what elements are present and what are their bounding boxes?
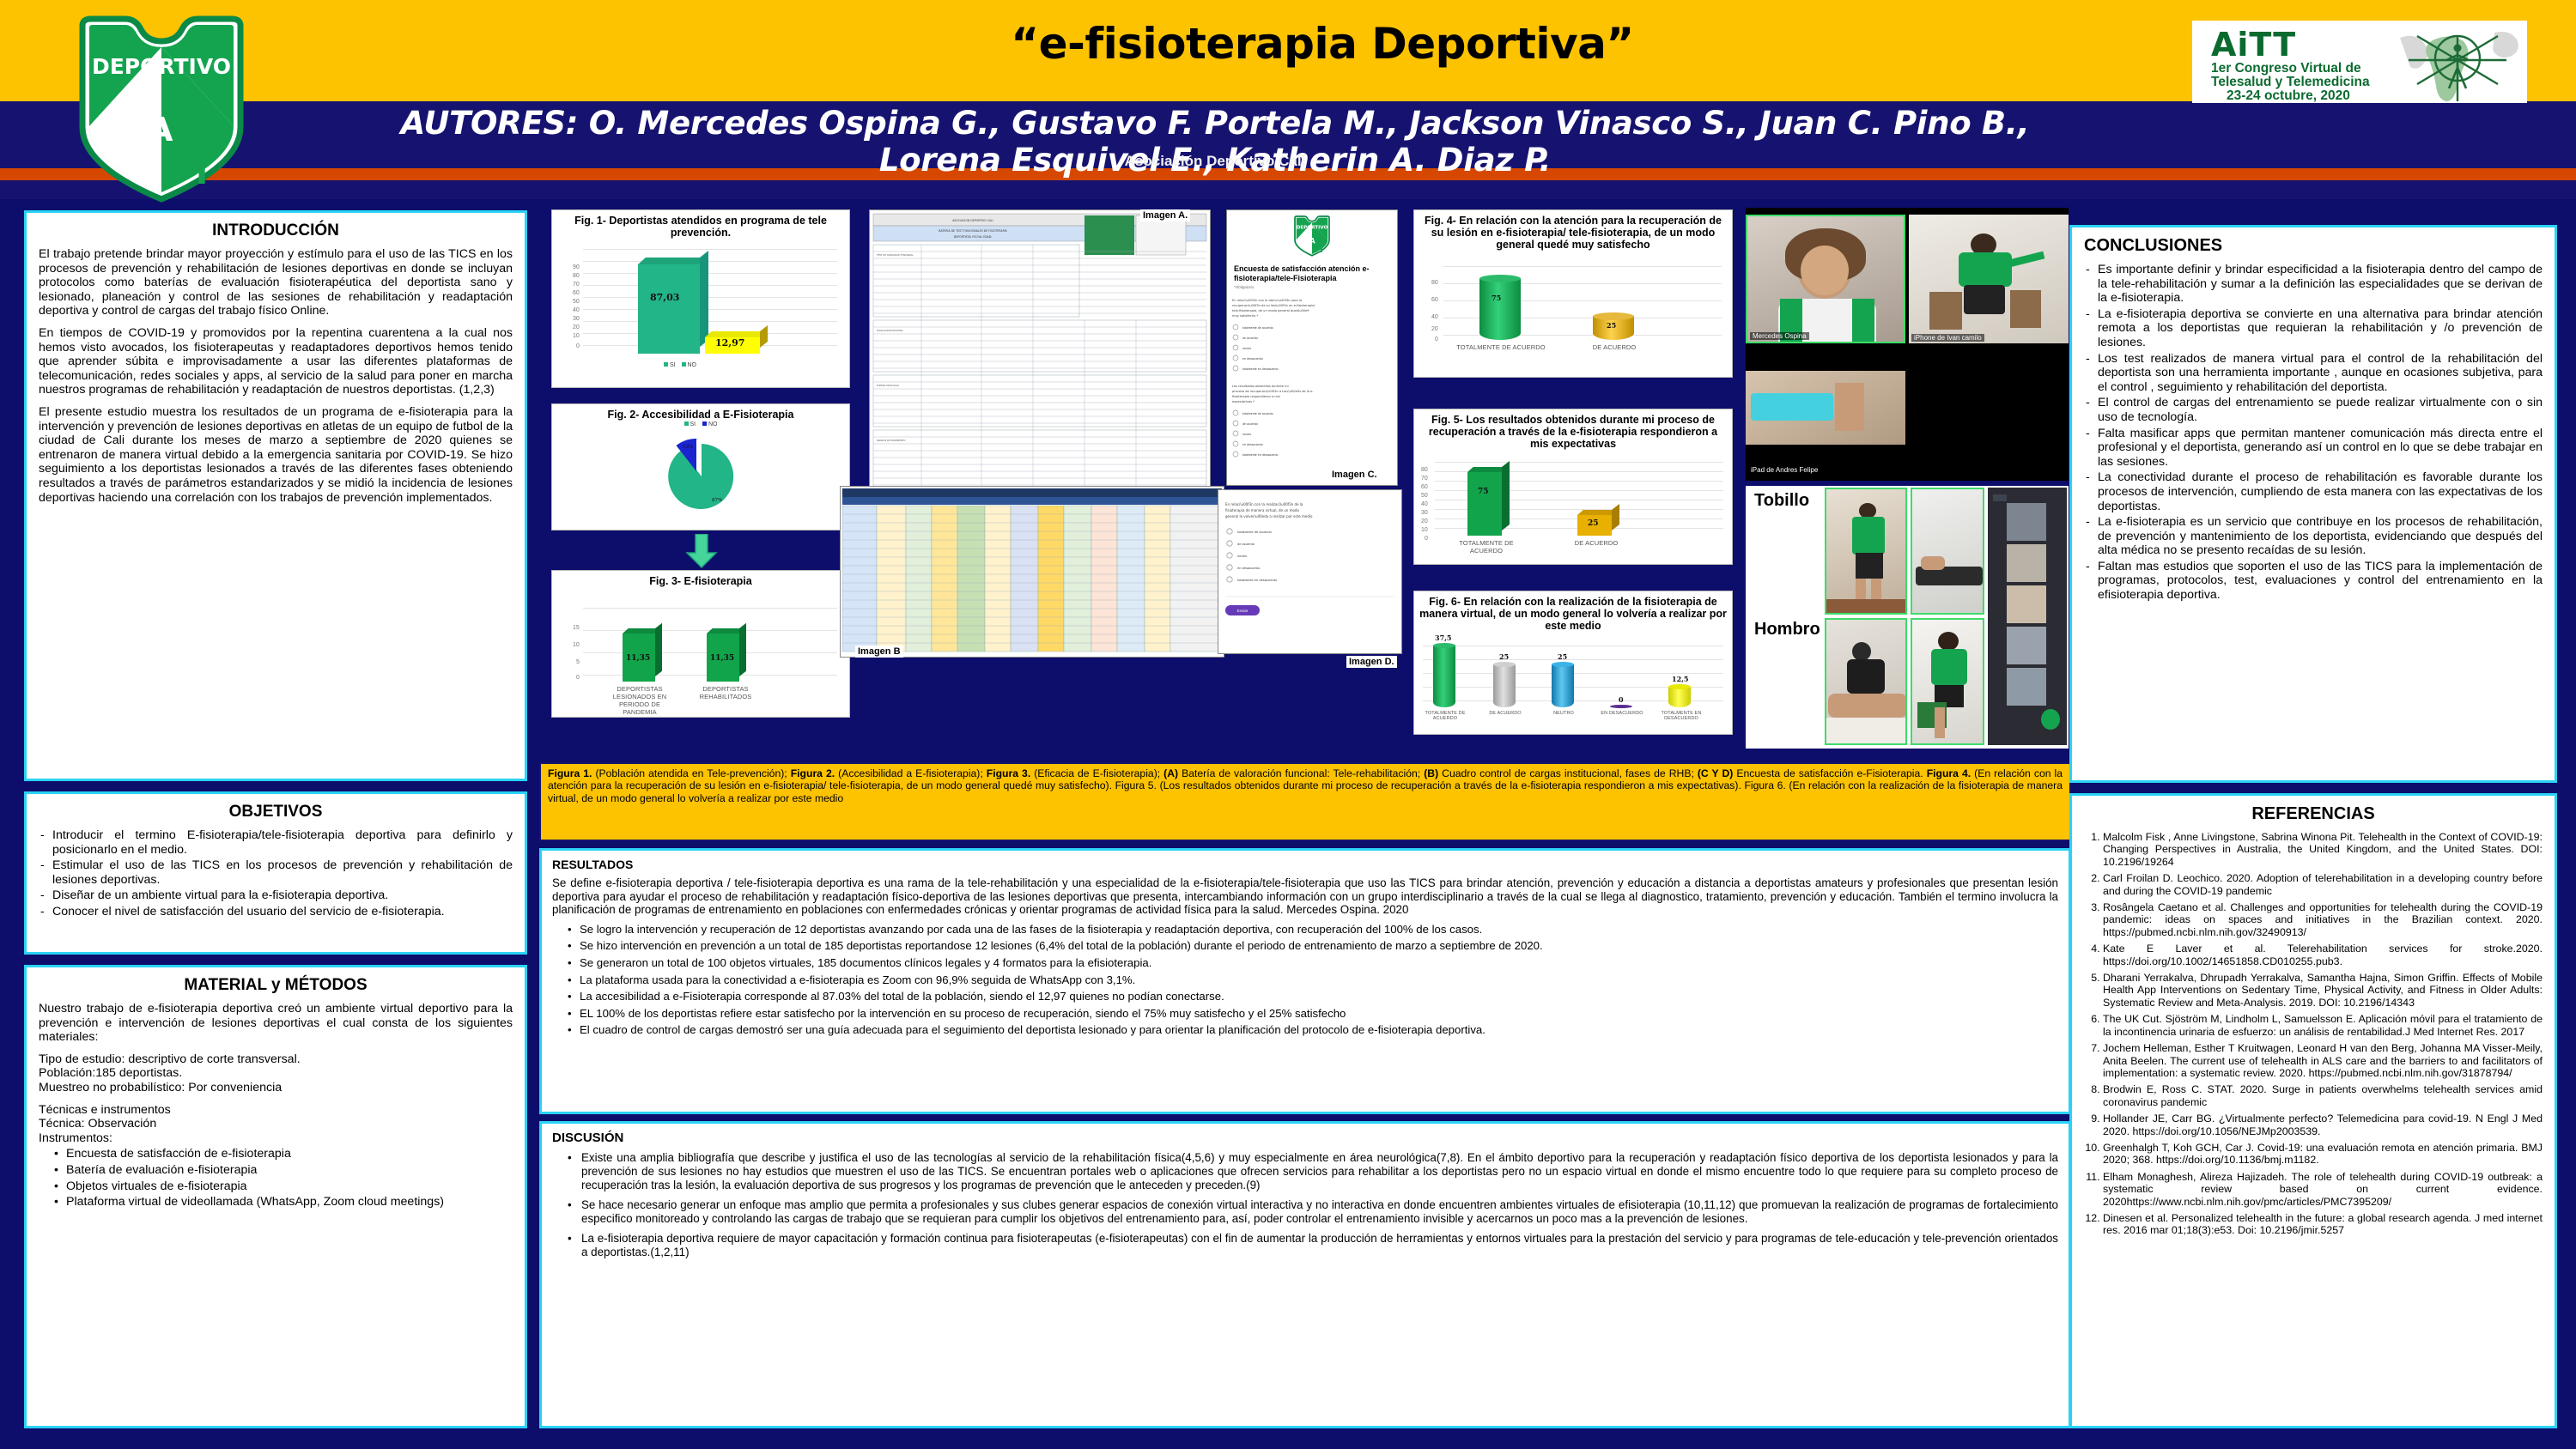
down-arrow-icon <box>685 534 718 568</box>
video-tile-participant-2: iPhone de Ivan camilo <box>1909 215 2069 343</box>
svg-text:A: A <box>148 111 173 149</box>
list-item: Se hace necesario generar un enfoque mas… <box>566 1198 2058 1226</box>
svg-text:de acuerdo: de acuerdo <box>1242 336 1258 340</box>
figure-4-category-2: DE ACUERDO <box>1567 343 1662 351</box>
figure-4-value-1: 75 <box>1492 294 1501 302</box>
section-referencias: REFERENCIAS Malcolm Fisk , Anne Livingst… <box>2069 793 2557 1428</box>
list-item: EL 100% de los deportistas refiere estar… <box>566 1007 2058 1021</box>
imagen-b-label: Imagen B <box>855 646 903 658</box>
svg-text:general lo volver\u00eda a rea: general lo volver\u00eda a realizar por … <box>1225 514 1313 518</box>
figure-4-value-2: 25 <box>1607 321 1616 330</box>
video-tile-participant-1: Mercedes Ospina <box>1746 215 1905 343</box>
svg-text:FUERZA MUSCULAR: FUERZA MUSCULAR <box>877 384 899 387</box>
material-tecnicas-heading: Técnicas e instrumentos <box>39 1103 513 1118</box>
imagen-c-survey-form: DEPORTIVO C A L I Encuesta de satisfacci… <box>1226 209 1398 486</box>
svg-text:totalmente de acuerdo: totalmente de acuerdo <box>1242 412 1273 415</box>
section-discusion: DISCUSIÓN Existe una amplia bibliografía… <box>539 1121 2071 1428</box>
figure-5-title: Fig. 5- Los resultados obtenidos durante… <box>1414 409 1732 452</box>
congress-logo: AiTT 1er Congreso Virtual de Telesalud y… <box>2192 21 2527 103</box>
body-label-tobillo: Tobillo <box>1749 489 1814 512</box>
load-control-spreadsheet-graphic <box>841 487 1224 657</box>
introduccion-heading: INTRODUCCIÓN <box>39 221 513 240</box>
figures-caption: Figura 1. (Población atendida en Tele-pr… <box>539 762 2071 841</box>
svg-text:neutro: neutro <box>1237 554 1248 558</box>
list-item: Greenhalgh T, Koh GCH, Car J. Covid-19: … <box>2103 1142 2543 1167</box>
list-item: Carl Froilan D. Leochico. 2020. Adoption… <box>2103 872 2543 897</box>
svg-text:neutro: neutro <box>1242 347 1251 350</box>
list-item: El cuadro de control de cargas demostró … <box>566 1023 2058 1037</box>
survey-questions-graphic: En relaci\u00f3n con la atenci\u00f3n pa… <box>1227 293 1397 473</box>
imagen-c-label: Imagen C. <box>1329 469 1380 481</box>
list-item: Encuesta de satisfacción de e-fisioterap… <box>52 1147 513 1161</box>
svg-text:En relaci\u00f3n con la atenci: En relaci\u00f3n con la atenci\u00f3n pa… <box>1232 299 1302 302</box>
figure-5-category-2: DE ACUERDO <box>1553 539 1639 547</box>
svg-text:TEST DE CAPACIDAD FUNCIONAL: TEST DE CAPACIDAD FUNCIONAL <box>877 253 914 257</box>
figure-2-chart: Fig. 2- Accesibilidad a E-Fisioterapia S… <box>551 403 850 530</box>
legend-label: NO <box>687 362 696 368</box>
page-title: “e-fisioterapia Deportiva” <box>653 19 1992 69</box>
material-instrumentos-heading: Instrumentos: <box>39 1131 513 1146</box>
figure-3-value-1: 11,35 <box>626 654 650 663</box>
svg-text:EVALUACION POSTURAL: EVALUACION POSTURAL <box>877 329 904 332</box>
deportivo-cali-logo: DEPORTIVO C A L I <box>76 7 247 204</box>
congress-line2: Telesalud y Telemedicina <box>2211 76 2370 89</box>
svg-text:de acuerdo: de acuerdo <box>1237 542 1255 546</box>
material-poblacion: Población:185 deportistas. <box>39 1066 513 1081</box>
svg-text:DEPORTISTA:: DEPORTISTA: FECHA: EDAD: <box>954 235 993 239</box>
list-item: Los test realizados de manera virtual pa… <box>2084 352 2543 395</box>
svg-text:de acuerdo: de acuerdo <box>1242 422 1258 426</box>
video-participant-name: iPhone de Ivan camilo <box>1911 334 1984 342</box>
introduccion-paragraph: El trabajo pretende brindar mayor proyec… <box>39 247 513 318</box>
figure-5-chart: Fig. 5- Los resultados obtenidos durante… <box>1413 409 1733 565</box>
photo-zoom-gallery <box>1988 488 2067 745</box>
discusion-list: Existe una amplia bibliografía que descr… <box>566 1151 2058 1259</box>
logo-deportivo-text: DEPORTIVO <box>92 54 231 79</box>
photo-tobillo-exercise <box>1825 488 1907 615</box>
list-item: The UK Cut. Sjöström M, Lindholm L, Samu… <box>2103 1013 2543 1038</box>
material-tipo-estudio: Tipo de estudio: descriptivo de corte tr… <box>39 1052 513 1067</box>
conclusiones-heading: CONCLUSIONES <box>2084 236 2543 256</box>
svg-text:ASOCIACION DEPORTIVO CALI: ASOCIACION DEPORTIVO CALI <box>952 219 993 222</box>
photo-hombro-stretch <box>1825 618 1907 745</box>
figure-1-chart: Fig. 1- Deportistas atendidos en program… <box>551 209 850 388</box>
list-item: Faltan mas estudios que soporten el uso … <box>2084 560 2543 603</box>
legend-label: SI <box>690 421 696 427</box>
svg-text:En relaci\u00f3n con la realiz: En relaci\u00f3n con la realizaci\u00f3n… <box>1225 502 1303 506</box>
svg-text:en desacuerdo: en desacuerdo <box>1237 566 1261 570</box>
evaluation-table-graphic: ASOCIACION DEPORTIVO CALI BATERIA DE TES… <box>870 210 1210 500</box>
svg-text:fisioterapia de manera virtual: fisioterapia de manera virtual, de un mo… <box>1225 508 1299 512</box>
list-item: El control de cargas del entrenamiento s… <box>2084 396 2543 424</box>
svg-text:en desacuerdo: en desacuerdo <box>1242 357 1263 361</box>
list-item: Brodwin E, Ross C. STAT. 2020. Surge in … <box>2103 1083 2543 1108</box>
figure-6-title: Fig. 6- En relación con la realización d… <box>1414 591 1732 634</box>
figure-4-chart: Fig. 4- En relación con la atención para… <box>1413 209 1733 378</box>
material-muestreo: Muestreo no probabilístico: Por convenie… <box>39 1081 513 1095</box>
section-conclusiones: CONCLUSIONES Es importante definir y bri… <box>2069 225 2557 783</box>
figure-5-category-1: TOTALMENTE DE ACUERDO <box>1443 539 1529 555</box>
svg-text:expectativas *: expectativas * <box>1232 400 1255 403</box>
list-item: La plataforma usada para la conectividad… <box>566 973 2058 987</box>
svg-text:totalmente en desacuerdo: totalmente en desacuerdo <box>1242 453 1279 457</box>
photo-floor-exercise <box>1911 488 1984 615</box>
introduccion-paragraph: El presente estudio muestra los resultad… <box>39 405 513 505</box>
figures-caption-text: Figura 1. (Población atendida en Tele-pr… <box>548 767 2063 804</box>
list-item: Es importante definir y brindar especifi… <box>2084 263 2543 306</box>
imagen-b-load-control-table <box>840 486 1224 658</box>
svg-text:totalmente de acuerdo: totalmente de acuerdo <box>1237 530 1273 534</box>
list-item: Conocer el nivel de satisfacción del usu… <box>39 905 513 919</box>
svg-text:totalmente en desacuerdo: totalmente en desacuerdo <box>1242 367 1279 371</box>
svg-text:BATERIA DE TEST FUNCIONALES DE: BATERIA DE TEST FUNCIONALES DE FISIOTERA… <box>939 229 1007 233</box>
list-item: La accesibilidad a e-Fisioterapia corres… <box>566 990 2058 1003</box>
video-tile-participant-3: iPad de Andres Felipe <box>1746 345 1905 476</box>
congress-line3: 23-24 octubre, 2020 <box>2227 89 2350 103</box>
material-tecnica: Técnica: Observación <box>39 1117 513 1131</box>
figure-1-legend: SI NO <box>664 362 696 368</box>
zoom-videocall-grid: Mercedes Ospina iPhone de Ivan camilo iP… <box>1746 208 2069 481</box>
figure-4-category-1: TOTALMENTE DE ACUERDO <box>1454 343 1548 351</box>
figures-area: Fig. 1- Deportistas atendidos en program… <box>539 206 2071 755</box>
imagen-a-evaluation-table: ASOCIACION DEPORTIVO CALI BATERIA DE TES… <box>869 209 1211 501</box>
figure-5-value-2: 25 <box>1588 519 1599 528</box>
figure-3-chart: Fig. 3- E-fisioterapia 15 10 5 0 11,35 1… <box>551 570 850 718</box>
list-item: Rosângela Caetano et al. Challenges and … <box>2103 901 2543 938</box>
list-item: Hollander JE, Carr BG. ¿Virtualmente per… <box>2103 1113 2543 1137</box>
figure-6-chart: Fig. 6- En relación con la realización d… <box>1413 591 1733 735</box>
figure-6-value-2: 25 <box>1499 652 1509 661</box>
section-material-metodos: MATERIAL y MÉTODOS Nuestro trabajo de e-… <box>24 965 527 1428</box>
list-item: La e-fisioterapia es un servicio que con… <box>2084 515 2543 558</box>
affiliation-line: Asociación Deportivo Cali <box>369 153 2061 170</box>
list-item: Batería de evaluación e-fisioterapia <box>52 1163 513 1178</box>
legend-label: SI <box>670 362 676 368</box>
survey-title: Encuesta de satisfacción atención e-fisi… <box>1227 261 1397 285</box>
list-item: Falta masificar apps que permitan manten… <box>2084 427 2543 470</box>
list-item: Diseñar de un ambiente virtual para la e… <box>39 888 513 903</box>
list-item: La e-fisioterapia deportiva se convierte… <box>2084 307 2543 350</box>
section-resultados: RESULTADOS Se define e-fisioterapia depo… <box>539 848 2071 1114</box>
svg-text:Enviar: Enviar <box>1237 609 1249 613</box>
figure-2-pie: 87% 13% <box>552 427 851 518</box>
svg-text:I: I <box>1321 246 1323 255</box>
figure-2-legend: SI NO <box>552 421 849 427</box>
list-item: Plataforma virtual de videollamada (What… <box>52 1195 513 1210</box>
svg-text:fisioterapia respondieron a mi: fisioterapia respondieron a mis <box>1232 395 1280 398</box>
list-item: Se hizo intervención en prevención a un … <box>566 939 2058 953</box>
svg-text:I: I <box>196 154 208 191</box>
figure-2-title: Fig. 2- Accesibilidad a E-Fisioterapia <box>552 404 849 422</box>
figure-3-value-2: 11,35 <box>710 654 734 663</box>
figure-6-category-5: TOTALMENTE EN DESACUERDO <box>1655 711 1708 721</box>
figure-3-title: Fig. 3- E-fisioterapia <box>552 571 849 589</box>
figure-2-value-si: 87% <box>712 498 722 503</box>
svg-text:L: L <box>1315 244 1320 252</box>
figure-5-value-1: 75 <box>1478 488 1489 496</box>
imagen-d-label: Imagen D. <box>1346 656 1397 668</box>
figure-4-title: Fig. 4- En relación con la atención para… <box>1414 210 1732 252</box>
figure-6-category-4: EN DESACUERDO <box>1596 711 1648 716</box>
list-item: Elham Monaghesh, Alireza Hajizadeh. The … <box>2103 1171 2543 1208</box>
material-intro: Nuestro trabajo de e-fisioterapia deport… <box>39 1002 513 1045</box>
svg-text:neutro: neutro <box>1242 433 1251 436</box>
resultados-paragraph: Se define e-fisioterapia deportiva / tel… <box>552 876 2058 917</box>
figure-6-category-3: NEUTRO <box>1538 711 1589 716</box>
objetivos-heading: OBJETIVOS <box>39 803 513 822</box>
body-label-hombro: Hombro <box>1749 618 1826 641</box>
list-item: Jochem Helleman, Esther T Kruitwagen, Le… <box>2103 1042 2543 1079</box>
globe-vitruvian-icon <box>2393 22 2522 103</box>
imagen-d-survey-form: En relaci\u00f3n con la realizaci\u00f3n… <box>1218 489 1402 654</box>
list-item: Malcolm Fisk , Anne Livingstone, Sabrina… <box>2103 831 2543 868</box>
discusion-heading: DISCUSIÓN <box>552 1131 2058 1145</box>
survey-club-logo-icon: DEPORTIVO C A L I <box>1293 214 1331 257</box>
list-item: Existe una amplia bibliografía que descr… <box>566 1151 2058 1192</box>
svg-text:muy satisfecho *: muy satisfecho * <box>1232 314 1258 318</box>
list-item: Estimular el uso de las TICS en los proc… <box>39 858 513 887</box>
video-participant-name: iPad de Andres Felipe <box>1748 466 1820 474</box>
material-instrumentos-list: Encuesta de satisfacción de e-fisioterap… <box>52 1147 513 1209</box>
photo-hombro-band-exercise <box>1911 618 1984 745</box>
list-item: Objetos virtuales de e-fisioterapia <box>52 1179 513 1194</box>
svg-text:totalmente de acuerdo: totalmente de acuerdo <box>1242 326 1273 330</box>
figure-6-category-1: TOTALMENTE DE ACUERDO <box>1419 711 1471 721</box>
figure-1-value-no: 12,97 <box>715 337 744 349</box>
video-participant-name: Mercedes Ospina <box>1750 332 1809 340</box>
resultados-heading: RESULTADOS <box>552 858 2058 871</box>
figure-6-value-4: 0 <box>1619 695 1624 704</box>
figure-3-category-2: DEPORTISTAS REHABILITADOS <box>691 685 760 700</box>
video-tile-empty <box>1909 345 2069 476</box>
resultados-list: Se logro la intervención y recuperación … <box>566 923 2058 1037</box>
svg-text:en desacuerdo: en desacuerdo <box>1242 443 1263 446</box>
figure-1-value-si: 87,03 <box>650 292 679 303</box>
list-item: Dharani Yerrakalva, Dhrupadh Yerrakalva,… <box>2103 972 2543 1009</box>
list-item: Introducir el termino E-fisioterapia/tel… <box>39 828 513 857</box>
figure-6-category-2: DE ACUERDO <box>1479 711 1531 716</box>
svg-text:totalmente en desacuerdo: totalmente en desacuerdo <box>1237 578 1278 582</box>
list-item: Dinesen et al. Personalized telehealth i… <box>2103 1212 2543 1237</box>
header-navy-band-lower <box>0 180 2576 199</box>
introduccion-paragraph: En tiempos de COVID-19 y promovidos por … <box>39 326 513 397</box>
objetivos-list: Introducir el termino E-fisioterapia/tel… <box>39 828 513 919</box>
svg-text:C: C <box>124 82 148 119</box>
svg-text:DEPORTIVO: DEPORTIVO <box>1297 225 1328 230</box>
figure-1-title: Fig. 1- Deportistas atendidos en program… <box>552 210 849 240</box>
list-item: La conectividad durante el proceso de re… <box>2084 470 2543 513</box>
figure-6-value-1: 37,5 <box>1435 634 1451 642</box>
survey-d-graphic: En relaci\u00f3n con la realizaci\u00f3n… <box>1218 490 1401 653</box>
svg-text:recuperaci\u00f3n de su lesi\u: recuperaci\u00f3n de su lesi\u00f3n en e… <box>1232 304 1315 307</box>
conclusiones-list: Es importante definir y brindar especifi… <box>2084 263 2543 603</box>
list-item: Kate E Laver et al. Telerehabilitation s… <box>2103 943 2543 967</box>
svg-text:proceso de recuperaci\u00f3n a: proceso de recuperaci\u00f3n a trav\u00e… <box>1232 390 1314 393</box>
section-introduccion: INTRODUCCIÓN El trabajo pretende brindar… <box>24 210 527 781</box>
svg-text:L: L <box>172 140 192 178</box>
imagen-a-label: Imagen A. <box>1140 209 1190 221</box>
svg-text:Los resultados obtenidos duran: Los resultados obtenidos durante mi <box>1232 385 1289 388</box>
congress-line1: 1er Congreso Virtual de <box>2211 62 2361 76</box>
referencias-list: Malcolm Fisk , Anne Livingstone, Sabrina… <box>2103 831 2543 1237</box>
referencias-heading: REFERENCIAS <box>2084 804 2543 824</box>
list-item: Se generaron un total de 100 objetos vir… <box>566 956 2058 970</box>
section-objetivos: OBJETIVOS Introducir el termino E-fisiot… <box>24 791 527 955</box>
list-item: Se logro la intervención y recuperación … <box>566 923 2058 937</box>
figure-2-value-no: 13% <box>683 445 693 450</box>
material-heading: MATERIAL y MÉTODOS <box>39 976 513 995</box>
figure-6-value-5: 12,5 <box>1672 675 1688 683</box>
list-item: La e-fisioterapia deportiva requiere de … <box>566 1232 2058 1259</box>
svg-text:RANGOS DE MOVIMIENTO: RANGOS DE MOVIMIENTO <box>877 439 905 442</box>
svg-text:C: C <box>1303 231 1309 239</box>
svg-text:tele-fisioterapia, de un modo: tele-fisioterapia, de un modo general qu… <box>1232 309 1309 312</box>
legend-label: NO <box>708 421 718 427</box>
therapy-photo-grid: Tobillo Hombro <box>1746 486 2069 749</box>
figure-3-category-1: DEPORTISTAS LESIONADOS EN PERIODO DE PAN… <box>605 685 674 716</box>
figure-6-value-3: 25 <box>1558 652 1567 661</box>
congress-wordmark: AiTT <box>2211 26 2296 64</box>
